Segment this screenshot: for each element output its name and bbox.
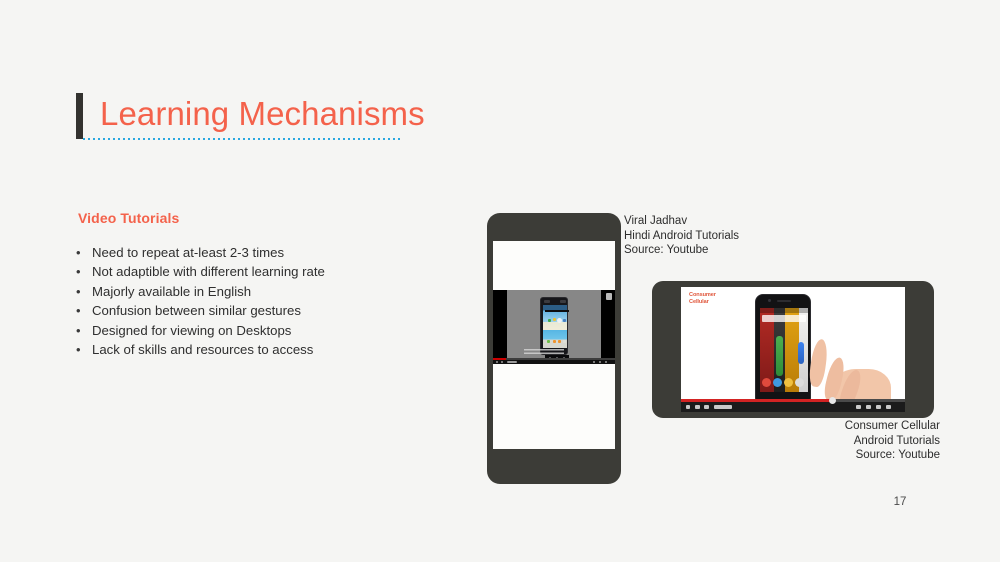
- list-item: • Not adaptible with different learning …: [76, 262, 406, 281]
- list-item-label: Designed for viewing on Desktops: [92, 321, 291, 340]
- app-icon-apps[interactable]: [795, 378, 804, 387]
- youtube-player-controls[interactable]: [681, 399, 905, 412]
- tablet-mockup: Consumer Cellular: [652, 281, 934, 418]
- time-display: [507, 361, 517, 363]
- moto-g-logo-blue: [798, 342, 804, 364]
- bullet-marker-icon: •: [76, 262, 92, 281]
- app-dock: [761, 378, 807, 389]
- logo-line2: Cellular: [689, 299, 723, 306]
- phone-caption-line1: Viral Jadhav: [624, 214, 739, 229]
- video-stage-backdrop: [507, 290, 601, 364]
- youtube-video-thumbnail-phone[interactable]: [493, 290, 615, 364]
- moto-g-screen: [760, 308, 808, 392]
- fullscreen-icon[interactable]: [605, 361, 607, 363]
- bullet-marker-icon: •: [76, 282, 92, 301]
- android-status-bar: [760, 308, 808, 313]
- fullscreen-icon[interactable]: [886, 405, 891, 409]
- phone-caption-line3: Source: Youtube: [624, 243, 739, 258]
- video-content-phone-device: [540, 297, 568, 355]
- slide-canvas: Learning Mechanisms Video Tutorials • Ne…: [0, 0, 1000, 562]
- page-number: 17: [880, 496, 920, 508]
- captions-icon[interactable]: [599, 361, 601, 363]
- volume-icon[interactable]: [704, 405, 709, 409]
- video-content-phone-screen: [543, 305, 567, 348]
- play-button-icon[interactable]: [496, 361, 498, 363]
- title-accent-bar: [76, 93, 83, 139]
- speaker-icon: [544, 300, 550, 303]
- next-button-icon[interactable]: [695, 405, 700, 409]
- smartphone-mockup: [487, 213, 621, 484]
- list-item: • Designed for viewing on Desktops: [76, 321, 406, 340]
- earpiece-icon: [777, 300, 791, 302]
- bullet-marker-icon: •: [76, 243, 92, 262]
- tablet-caption-line3: Source: Youtube: [758, 448, 940, 463]
- video-control-bar[interactable]: [493, 360, 615, 364]
- phone-caption-line2: Hindi Android Tutorials: [624, 229, 739, 244]
- list-item-label: Lack of skills and resources to access: [92, 340, 313, 359]
- moto-g-device-image: [755, 294, 811, 406]
- video-progress-fill: [681, 399, 833, 402]
- google-search-widget[interactable]: [762, 315, 806, 322]
- list-item-label: Need to repeat at-least 2-3 times: [92, 243, 284, 262]
- list-item: • Confusion between similar gestures: [76, 301, 406, 320]
- android-status-bar: [545, 310, 569, 312]
- page-title: Learning Mechanisms: [76, 93, 406, 149]
- app-icon: [553, 340, 556, 343]
- front-camera-icon: [768, 299, 771, 302]
- list-item: • Majorly available in English: [76, 282, 406, 301]
- smartphone-screen: [493, 241, 615, 449]
- app-icon-phone[interactable]: [773, 378, 782, 387]
- bullet-list: • Need to repeat at-least 2-3 times • No…: [76, 243, 406, 359]
- phone-caption: Viral Jadhav Hindi Android Tutorials Sou…: [624, 214, 739, 258]
- video-progress-handle[interactable]: [829, 397, 836, 404]
- consumer-cellular-logo: Consumer Cellular: [689, 292, 723, 306]
- tablet-screen: Consumer Cellular: [681, 287, 905, 412]
- play-button-icon[interactable]: [686, 405, 690, 409]
- bullet-marker-icon: •: [76, 301, 92, 320]
- app-icon: [558, 340, 561, 343]
- settings-gear-icon[interactable]: [593, 361, 595, 363]
- list-item-label: Confusion between similar gestures: [92, 301, 301, 320]
- video-subtitle-overlay: [524, 349, 564, 356]
- list-item: • Lack of skills and resources to access: [76, 340, 406, 359]
- app-icon-messaging[interactable]: [762, 378, 771, 387]
- app-icon: [557, 318, 562, 323]
- logo-line1: Consumer: [689, 292, 723, 299]
- theater-mode-icon[interactable]: [876, 405, 881, 409]
- volume-icon[interactable]: [501, 361, 503, 363]
- app-icon: [563, 340, 566, 343]
- app-icon-chrome[interactable]: [784, 378, 793, 387]
- section-heading: Video Tutorials: [78, 210, 179, 226]
- app-icon: [548, 319, 551, 322]
- title-text: Learning Mechanisms: [100, 91, 425, 137]
- video-progress-bar[interactable]: [681, 399, 905, 402]
- bullet-marker-icon: •: [76, 340, 92, 359]
- tablet-caption-line2: Android Tutorials: [758, 434, 940, 449]
- time-display: [714, 405, 732, 409]
- list-item-label: Not adaptible with different learning ra…: [92, 262, 325, 281]
- settings-gear-icon[interactable]: [866, 405, 871, 409]
- speaker-icon: [560, 300, 566, 303]
- list-item-label: Majorly available in English: [92, 282, 251, 301]
- captions-icon[interactable]: [856, 405, 861, 409]
- channel-badge-icon: [606, 293, 612, 300]
- bullet-marker-icon: •: [76, 321, 92, 340]
- tablet-caption: Consumer Cellular Android Tutorials Sour…: [758, 419, 940, 463]
- app-icon: [553, 318, 556, 321]
- app-icon: [563, 319, 566, 322]
- moto-g-logo-green: [776, 336, 783, 376]
- app-icon: [547, 340, 550, 343]
- tablet-caption-line1: Consumer Cellular: [758, 419, 940, 434]
- list-item: • Need to repeat at-least 2-3 times: [76, 243, 406, 262]
- title-dotted-underline: [83, 138, 401, 140]
